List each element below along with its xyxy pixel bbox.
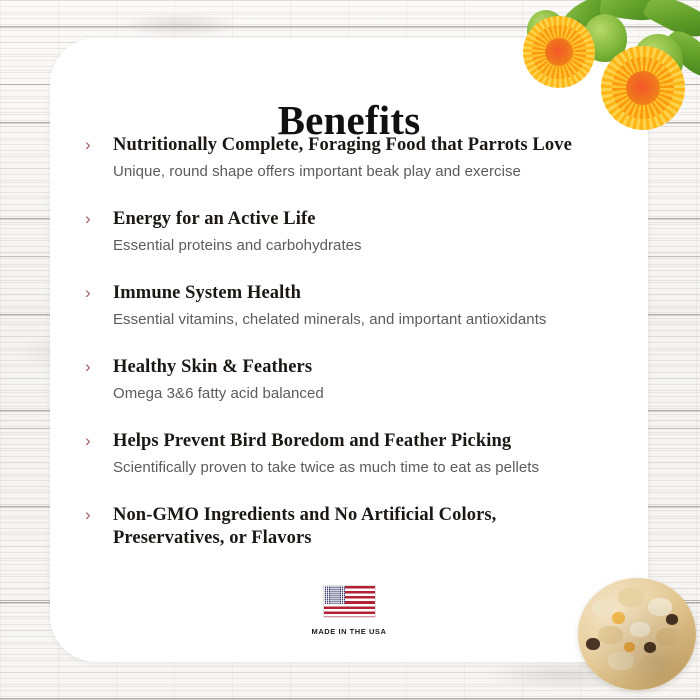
product-benefits-graphic: Benefits › Nutritionally Complete, Forag… [0, 0, 700, 700]
safflower-bloom [523, 16, 595, 88]
benefit-subtext: Omega 3&6 fatty acid balanced [113, 383, 620, 404]
benefit-heading: Helps Prevent Bird Boredom and Feather P… [113, 430, 620, 453]
list-item: › Nutritionally Complete, Foraging Food … [85, 134, 620, 182]
benefit-heading: Immune System Health [113, 282, 620, 305]
safflower-bloom [601, 46, 685, 130]
list-item: › Energy for an Active Life Essential pr… [85, 208, 620, 256]
list-item: › Healthy Skin & Feathers Omega 3&6 fatt… [85, 356, 620, 404]
list-item: › Immune System Health Essential vitamin… [85, 282, 620, 330]
chevron-right-icon: › [85, 283, 91, 303]
benefit-subtext: Unique, round shape offers important bea… [113, 161, 620, 182]
benefit-subtext: Scientifically proven to take twice as m… [113, 457, 620, 478]
chevron-right-icon: › [85, 209, 91, 229]
benefits-list: › Nutritionally Complete, Foraging Food … [85, 134, 620, 550]
benefit-subtext: Essential proteins and carbohydrates [113, 235, 620, 256]
made-in-usa-caption: MADE IN THE USA [50, 627, 648, 636]
wood-knot [120, 12, 240, 38]
made-in-usa-badge: MADE IN THE USA [50, 585, 648, 636]
benefit-subtext: Essential vitamins, chelated minerals, a… [113, 309, 620, 330]
flower-core [626, 71, 660, 105]
chevron-right-icon: › [85, 357, 91, 377]
list-item: › Non-GMO Ingredients and No Artificial … [85, 504, 620, 550]
flag-canton [324, 586, 345, 604]
bird-food-ball-image [578, 578, 696, 690]
chevron-right-icon: › [85, 431, 91, 451]
list-item: › Helps Prevent Bird Boredom and Feather… [85, 430, 620, 478]
safflower-blossoms-image [505, 0, 700, 140]
chevron-right-icon: › [85, 135, 91, 155]
benefit-heading: Non-GMO Ingredients and No Artificial Co… [113, 504, 543, 550]
chevron-right-icon: › [85, 505, 91, 525]
benefit-heading: Healthy Skin & Feathers [113, 356, 620, 379]
usa-flag-icon [323, 585, 376, 618]
benefit-heading: Energy for an Active Life [113, 208, 620, 231]
ball-shading [578, 578, 696, 690]
